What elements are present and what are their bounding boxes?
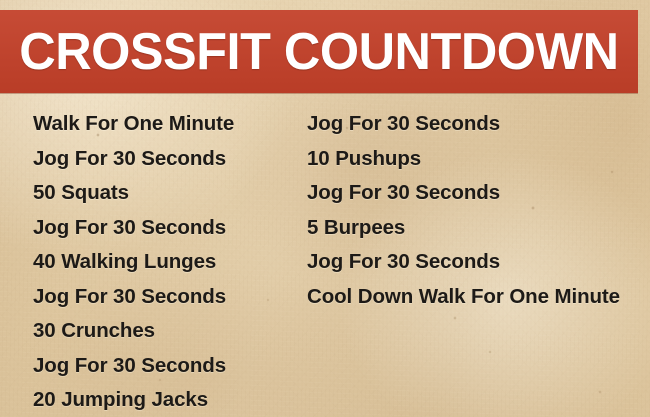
list-item: Jog For 30 Seconds xyxy=(33,211,298,246)
list-item: Jog For 30 Seconds xyxy=(33,349,298,384)
workout-list: Walk For One Minute Jog For 30 Seconds 5… xyxy=(0,107,650,417)
list-item: 50 Squats xyxy=(33,176,298,211)
list-item: Jog For 30 Seconds xyxy=(307,176,642,211)
list-item: 10 Pushups xyxy=(307,142,642,177)
list-item: 20 Jumping Jacks xyxy=(33,383,298,417)
workout-column-left: Walk For One Minute Jog For 30 Seconds 5… xyxy=(33,107,298,417)
page-title: CROSSFIT COUNTDOWN xyxy=(19,26,618,78)
list-item: Cool Down Walk For One Minute xyxy=(307,280,642,315)
list-item: 30 Crunches xyxy=(33,314,298,349)
crossfit-countdown-poster: CROSSFIT COUNTDOWN Walk For One Minute J… xyxy=(0,0,650,417)
list-item: 40 Walking Lunges xyxy=(33,245,298,280)
list-item: Jog For 30 Seconds xyxy=(33,142,298,177)
list-item: Jog For 30 Seconds xyxy=(307,107,642,142)
list-item: Jog For 30 Seconds xyxy=(33,280,298,315)
workout-column-right: Jog For 30 Seconds 10 Pushups Jog For 30… xyxy=(307,107,642,314)
list-item: Walk For One Minute xyxy=(33,107,298,142)
list-item: 5 Burpees xyxy=(307,211,642,246)
list-item: Jog For 30 Seconds xyxy=(307,245,642,280)
title-banner: CROSSFIT COUNTDOWN xyxy=(0,10,638,93)
